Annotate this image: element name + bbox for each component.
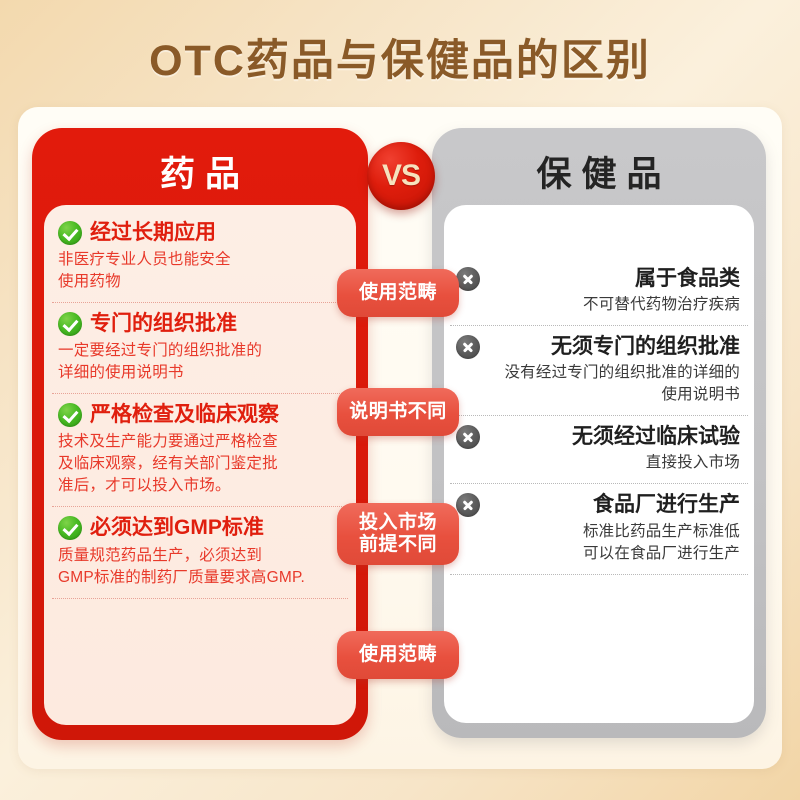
green-check-icon xyxy=(58,221,82,245)
list-item-description: 直接投入市场 xyxy=(456,452,740,474)
comparison-pill-usage-scope-2: 使用范畴 xyxy=(337,631,459,679)
list-item: 专门的组织批准一定要经过专门的组织批准的详细的使用说明书 xyxy=(44,312,356,384)
list-divider xyxy=(52,598,348,599)
list-item-header: 严格检查及临床观察 xyxy=(58,403,340,427)
health-product-card-heading: 保健品 xyxy=(432,146,766,197)
list-divider xyxy=(450,415,748,416)
list-item: 必须达到GMP标准质量规范药品生产，必须达到GMP标准的制药厂质量要求高GMP. xyxy=(44,516,356,588)
list-item-header: 经过长期应用 xyxy=(58,221,340,245)
gray-cross-icon xyxy=(456,493,480,517)
list-item-header: 无须经过临床试验 xyxy=(456,425,740,449)
vs-badge: VS xyxy=(367,142,435,210)
list-item-description: 非医疗专业人员也能安全使用药物 xyxy=(58,249,340,293)
list-item-description: 一定要经过专门的组织批准的详细的使用说明书 xyxy=(58,340,340,384)
vs-badge-label: VS xyxy=(382,159,420,193)
list-item: 属于食品类不可替代药物治疗疾病 xyxy=(444,267,754,316)
list-item-title: 属于食品类 xyxy=(490,267,740,291)
gray-cross-icon xyxy=(456,335,480,359)
green-check-icon xyxy=(58,403,82,427)
list-item-description: 不可替代药物治疗疾病 xyxy=(456,294,740,316)
list-item: 食品厂进行生产标准比药品生产标准低可以在食品厂进行生产 xyxy=(444,493,754,564)
gray-cross-icon xyxy=(456,425,480,449)
list-item-title: 严格检查及临床观察 xyxy=(90,403,279,427)
list-item-header: 属于食品类 xyxy=(456,267,740,291)
list-item-description: 标准比药品生产标准低可以在食品厂进行生产 xyxy=(456,521,740,565)
list-item-header: 专门的组织批准 xyxy=(58,312,340,336)
list-item-header: 必须达到GMP标准 xyxy=(58,516,340,540)
list-divider xyxy=(450,574,748,575)
infographic-canvas: OTC药品与保健品的区别 药品 经过长期应用非医疗专业人员也能安全使用药物专门的… xyxy=(0,0,800,800)
gray-cross-icon xyxy=(456,267,480,291)
medicine-card-heading: 药品 xyxy=(32,146,368,197)
list-item-description: 技术及生产能力要通过严格检查及临床观察，经有关部门鉴定批准后，才可以投入市场。 xyxy=(58,431,340,497)
list-item-title: 经过长期应用 xyxy=(90,221,216,245)
health-product-item-list: 属于食品类不可替代药物治疗疾病无须专门的组织批准没有经过专门的组织批准的详细的使… xyxy=(444,205,754,584)
health-product-card: 保健品 属于食品类不可替代药物治疗疾病无须专门的组织批准没有经过专门的组织批准的… xyxy=(432,128,766,738)
green-check-icon xyxy=(58,516,82,540)
list-item: 严格检查及临床观察技术及生产能力要通过严格检查及临床观察，经有关部门鉴定批准后，… xyxy=(44,403,356,497)
medicine-item-list: 经过长期应用非医疗专业人员也能安全使用药物专门的组织批准一定要经过专门的组织批准… xyxy=(44,205,356,608)
medicine-card: 药品 经过长期应用非医疗专业人员也能安全使用药物专门的组织批准一定要经过专门的组… xyxy=(32,128,368,740)
list-divider xyxy=(450,483,748,484)
health-product-card-body: 属于食品类不可替代药物治疗疾病无须专门的组织批准没有经过专门的组织批准的详细的使… xyxy=(444,205,754,723)
list-item: 经过长期应用非医疗专业人员也能安全使用药物 xyxy=(44,221,356,293)
comparison-pill-instructions: 说明书不同 xyxy=(337,388,459,436)
list-divider xyxy=(52,393,348,394)
list-item-description: 质量规范药品生产，必须达到GMP标准的制药厂质量要求高GMP. xyxy=(58,545,340,589)
list-item-header: 食品厂进行生产 xyxy=(456,493,740,517)
comparison-pill-market-entry: 投入市场前提不同 xyxy=(337,503,459,565)
list-item-title: 必须达到GMP标准 xyxy=(90,516,264,540)
list-item-title: 无须专门的组织批准 xyxy=(490,335,740,359)
list-item-description: 没有经过专门的组织批准的详细的使用说明书 xyxy=(456,362,740,406)
list-item-title: 专门的组织批准 xyxy=(90,312,237,336)
comparison-pill-usage-scope-1: 使用范畴 xyxy=(337,269,459,317)
list-item: 无须经过临床试验直接投入市场 xyxy=(444,425,754,474)
page-title: OTC药品与保健品的区别 xyxy=(0,26,800,88)
green-check-icon xyxy=(58,312,82,336)
list-item: 无须专门的组织批准没有经过专门的组织批准的详细的使用说明书 xyxy=(444,335,754,406)
medicine-card-body: 经过长期应用非医疗专业人员也能安全使用药物专门的组织批准一定要经过专门的组织批准… xyxy=(44,205,356,725)
list-item-title: 无须经过临床试验 xyxy=(490,425,740,449)
list-divider xyxy=(52,506,348,507)
list-divider xyxy=(450,325,748,326)
list-item-header: 无须专门的组织批准 xyxy=(456,335,740,359)
list-divider xyxy=(52,302,348,303)
list-item-title: 食品厂进行生产 xyxy=(490,493,740,517)
